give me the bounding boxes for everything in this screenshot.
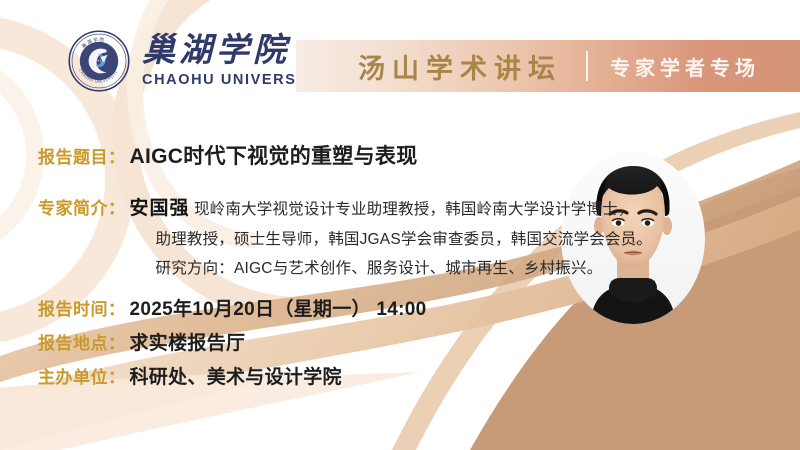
bio-text-2: 助理教授，硕士生导师，韩国JGAS学会审查委员，韩国交流学会会员。 bbox=[156, 231, 653, 248]
bio-text-1: 现岭南大学视觉设计专业助理教授，韩国岭南大学设计学博士， bbox=[194, 201, 634, 218]
organizer-value: 科研处、美术与设计学院 bbox=[130, 362, 342, 389]
organizer-row: 主办单位： 科研处、美术与设计学院 bbox=[38, 362, 342, 389]
time-value: 2025年10月20日（星期一） 14:00 bbox=[130, 294, 427, 321]
topic-value: AIGC时代下视觉的重塑与表现 bbox=[130, 140, 418, 170]
bio-line-1: 安国强 现岭南大学视觉设计专业助理教授，韩国岭南大学设计学博士， bbox=[130, 201, 634, 218]
place-row: 报告地点： 求实楼报告厅 bbox=[38, 328, 245, 355]
bio-lines: 安国强 现岭南大学视觉设计专业助理教授，韩国岭南大学设计学博士， 助理教授，硕士… bbox=[130, 199, 653, 277]
bio-text-3: 研究方向：AIGC与艺术创作、服务设计、城市再生、乡村振兴。 bbox=[156, 260, 603, 277]
bio-line-3: 研究方向：AIGC与艺术创作、服务设计、城市再生、乡村振兴。 bbox=[130, 261, 653, 277]
organizer-label: 主办单位： bbox=[38, 363, 126, 388]
place-value: 求实楼报告厅 bbox=[130, 328, 246, 355]
time-row: 报告时间： 2025年10月20日（星期一） 14:00 bbox=[38, 294, 427, 321]
topic-row: 报告题目： AIGC时代下视觉的重塑与表现 bbox=[38, 140, 418, 170]
bio-row: 专家简介： 安国强 现岭南大学视觉设计专业助理教授，韩国岭南大学设计学博士， 助… bbox=[38, 194, 652, 277]
place-label: 报告地点： bbox=[38, 329, 126, 354]
bio-label: 专家简介： bbox=[38, 194, 126, 219]
bio-line-2: 助理教授，硕士生导师，韩国JGAS学会审查委员，韩国交流学会会员。 bbox=[130, 232, 653, 248]
poster-content: 报告题目： AIGC时代下视觉的重塑与表现 专家简介： 安国强 现岭南大学视觉设… bbox=[0, 0, 800, 450]
topic-label: 报告题目： bbox=[38, 143, 126, 168]
lecture-poster: 1977 巢湖学院 CHAOHU UNIVERSITY 巢湖学院 CHAOHU … bbox=[0, 0, 800, 450]
time-label: 报告时间： bbox=[38, 295, 126, 320]
speaker-name: 安国强 bbox=[130, 198, 190, 219]
